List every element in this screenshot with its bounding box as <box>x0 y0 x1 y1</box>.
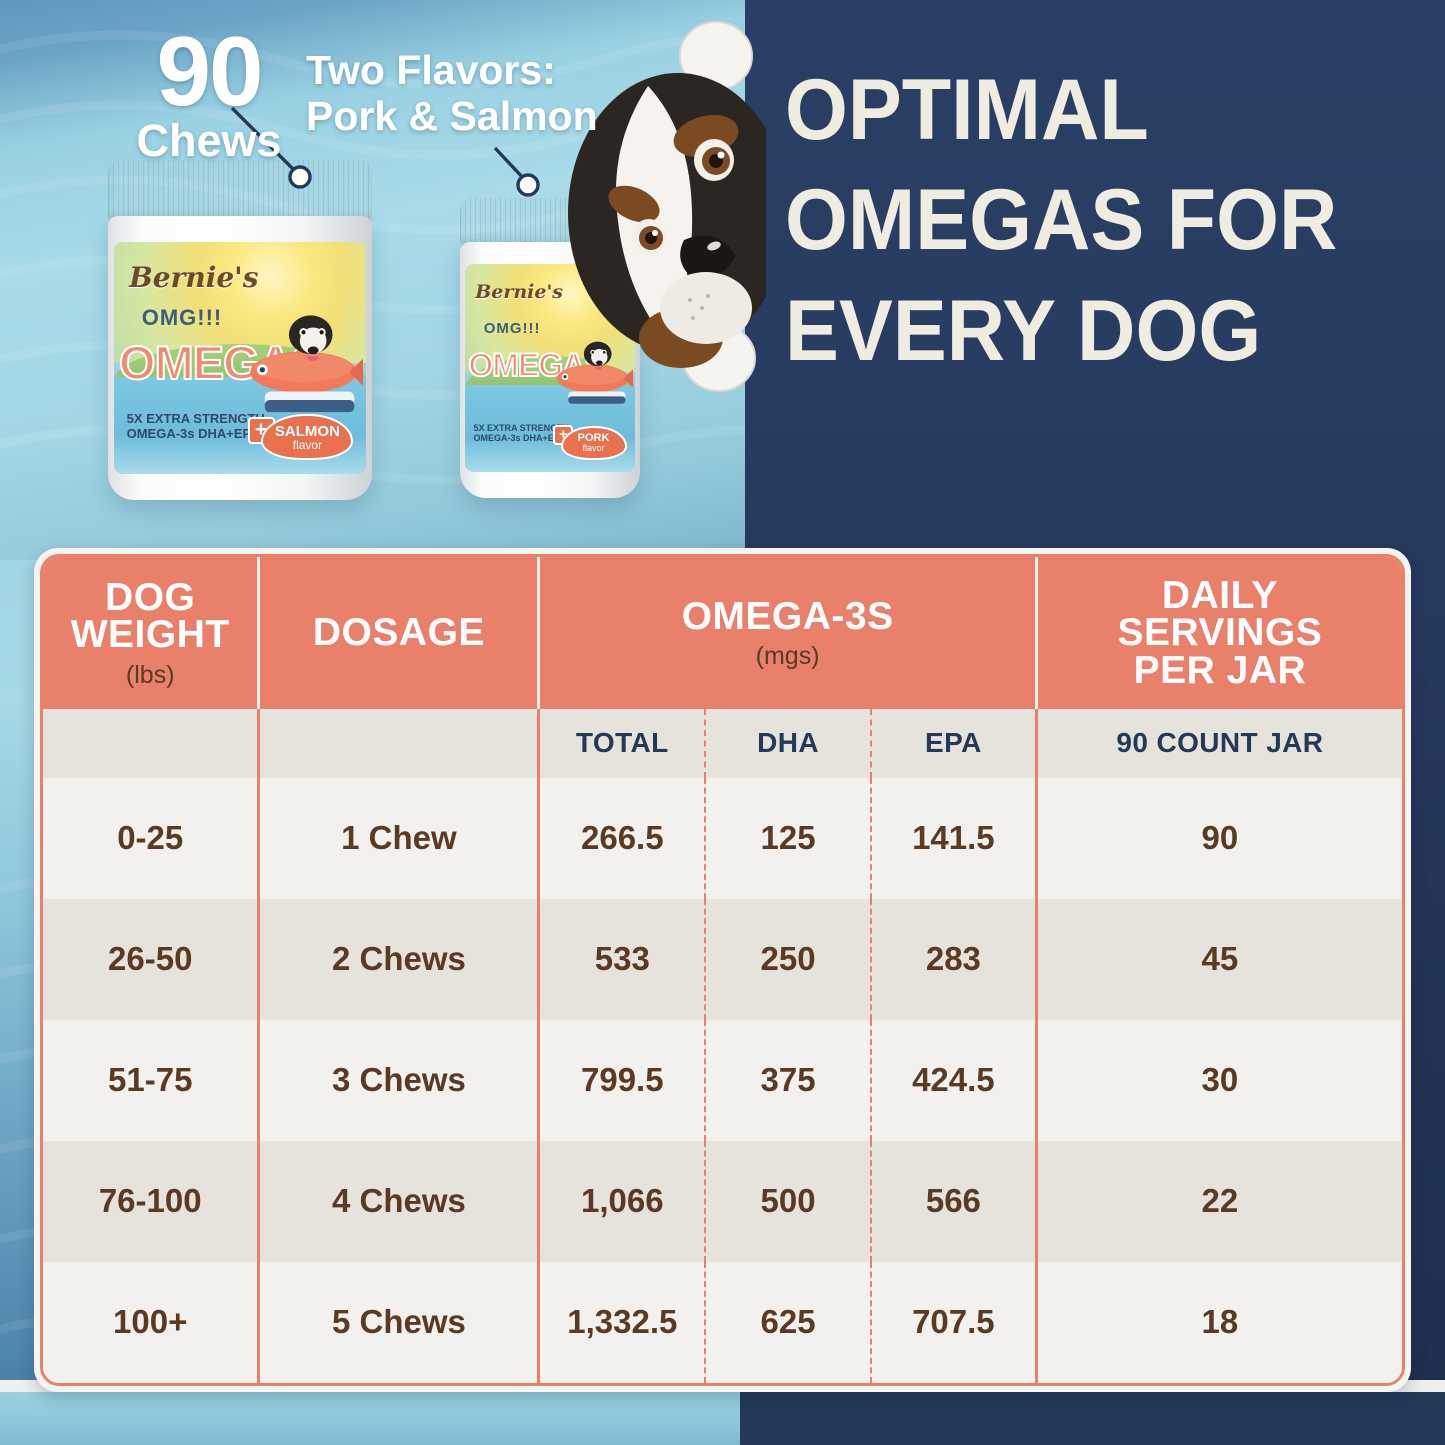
header-dog-weight-l1: DOG <box>105 579 195 616</box>
flavors-callout: Two Flavors: Pork & Salmon <box>306 48 636 140</box>
subheader-dosage-spacer <box>260 709 540 778</box>
jar-brand-salmon: Bernie's <box>129 261 258 294</box>
table-header-row: DOG WEIGHT (lbs) DOSAGE OMEGA-3S (mgs) D… <box>43 557 1402 709</box>
header-daily-l1: DAILY <box>1162 577 1278 614</box>
cell-dha: 500 <box>706 1141 872 1262</box>
jar-lid-salmon <box>108 160 372 222</box>
table-row: 0-25 1 Chew 266.5 125 141.5 90 <box>43 778 1402 899</box>
cell-dha: 375 <box>706 1020 872 1141</box>
header-omega-3s-label: OMEGA-3S <box>682 598 894 635</box>
subheader-total: TOTAL <box>540 709 706 778</box>
header-dog-weight: DOG WEIGHT (lbs) <box>43 557 260 709</box>
header-omega-3s-unit: (mgs) <box>756 644 820 668</box>
jar-subbrand-salmon: OMG!!! <box>142 305 223 331</box>
cell-daily: 18 <box>1038 1262 1402 1383</box>
cell-epa: 424.5 <box>872 1020 1038 1141</box>
cell-epa: 283 <box>872 899 1038 1020</box>
cell-weight: 26-50 <box>43 899 260 1020</box>
header-daily-servings: DAILY SERVINGS PER JAR <box>1038 557 1402 709</box>
flavors-callout-line1: Two Flavors: <box>306 47 556 93</box>
jar-subbrand-pork: OMG!!! <box>484 320 541 337</box>
cell-daily: 90 <box>1038 778 1402 899</box>
header-daily-l2: SERVINGS <box>1117 614 1322 651</box>
cell-epa: 141.5 <box>872 778 1038 899</box>
cell-total: 266.5 <box>540 778 706 899</box>
subheader-epa: EPA <box>872 709 1038 778</box>
cell-weight: 0-25 <box>43 778 260 899</box>
chew-count-label: Chews <box>84 120 334 161</box>
header-dosage: DOSAGE <box>260 557 540 709</box>
table-row: 76-100 4 Chews 1,066 500 566 22 <box>43 1141 1402 1262</box>
cell-dosage: 5 Chews <box>260 1262 540 1383</box>
cell-daily: 30 <box>1038 1020 1402 1141</box>
chew-count-callout: 90 Chews <box>84 26 334 162</box>
header-dog-weight-l2: WEIGHT <box>71 616 230 653</box>
bottom-band-right <box>740 1392 1445 1445</box>
cell-daily: 22 <box>1038 1141 1402 1262</box>
infographic-stage: Bernie's OMG!!! OMEGAS 5X EXTRA STRENGTH… <box>0 0 1445 1445</box>
headline-line-3: EVERY DOG <box>785 289 1368 373</box>
cell-dha: 250 <box>706 899 872 1020</box>
cell-dha: 625 <box>706 1262 872 1383</box>
header-daily-l3: PER JAR <box>1134 652 1307 689</box>
cell-dha: 125 <box>706 778 872 899</box>
main-headline: OPTIMAL OMEGAS FOR EVERY DOG <box>785 68 1368 373</box>
table-row: 26-50 2 Chews 533 250 283 45 <box>43 899 1402 1020</box>
bottom-band-left <box>0 1392 740 1445</box>
cell-epa: 566 <box>872 1141 1038 1262</box>
jar-claim-salmon-l2: OMEGA-3s DHA+EPA <box>127 426 260 441</box>
cell-total: 533 <box>540 899 706 1020</box>
table-row: 100+ 5 Chews 1,332.5 625 707.5 18 <box>43 1262 1402 1383</box>
cell-dosage: 4 Chews <box>260 1141 540 1262</box>
table-row: 51-75 3 Chews 799.5 375 424.5 30 <box>43 1020 1402 1141</box>
headline-line-2: OMEGAS FOR <box>785 178 1368 262</box>
subheader-weight-spacer <box>43 709 260 778</box>
header-omega-3s: OMEGA-3S (mgs) <box>540 557 1037 709</box>
header-dog-weight-unit: (lbs) <box>126 663 175 687</box>
flavors-callout-line2: Pork & Salmon <box>306 93 598 139</box>
cell-total: 799.5 <box>540 1020 706 1141</box>
dog-and-fish-illustration-salmon <box>243 279 364 446</box>
cell-weight: 76-100 <box>43 1141 260 1262</box>
dosage-table: DOG WEIGHT (lbs) DOSAGE OMEGA-3S (mgs) D… <box>34 548 1411 1392</box>
cell-daily: 45 <box>1038 899 1402 1020</box>
cell-weight: 100+ <box>43 1262 260 1383</box>
cell-dosage: 1 Chew <box>260 778 540 899</box>
cell-dosage: 3 Chews <box>260 1020 540 1141</box>
table-subheader-row: TOTAL DHA EPA 90 COUNT JAR <box>43 709 1402 778</box>
product-jar-salmon: Bernie's OMG!!! OMEGAS 5X EXTRA STRENGTH… <box>108 160 372 500</box>
jar-brand-pork: Bernie's <box>475 281 563 303</box>
jar-label-salmon: Bernie's OMG!!! OMEGAS 5X EXTRA STRENGTH… <box>114 242 366 474</box>
cell-epa: 707.5 <box>872 1262 1038 1383</box>
jar-body-salmon: Bernie's OMG!!! OMEGAS 5X EXTRA STRENGTH… <box>108 216 372 500</box>
subheader-dha: DHA <box>706 709 872 778</box>
cell-weight: 51-75 <box>43 1020 260 1141</box>
cell-total: 1,066 <box>540 1141 706 1262</box>
cell-total: 1,332.5 <box>540 1262 706 1383</box>
subheader-daily-count-jar: 90 COUNT JAR <box>1038 709 1402 778</box>
header-dosage-label: DOSAGE <box>313 614 485 651</box>
cell-dosage: 2 Chews <box>260 899 540 1020</box>
headline-line-1: OPTIMAL <box>785 68 1368 152</box>
chew-count-number: 90 <box>84 26 334 116</box>
